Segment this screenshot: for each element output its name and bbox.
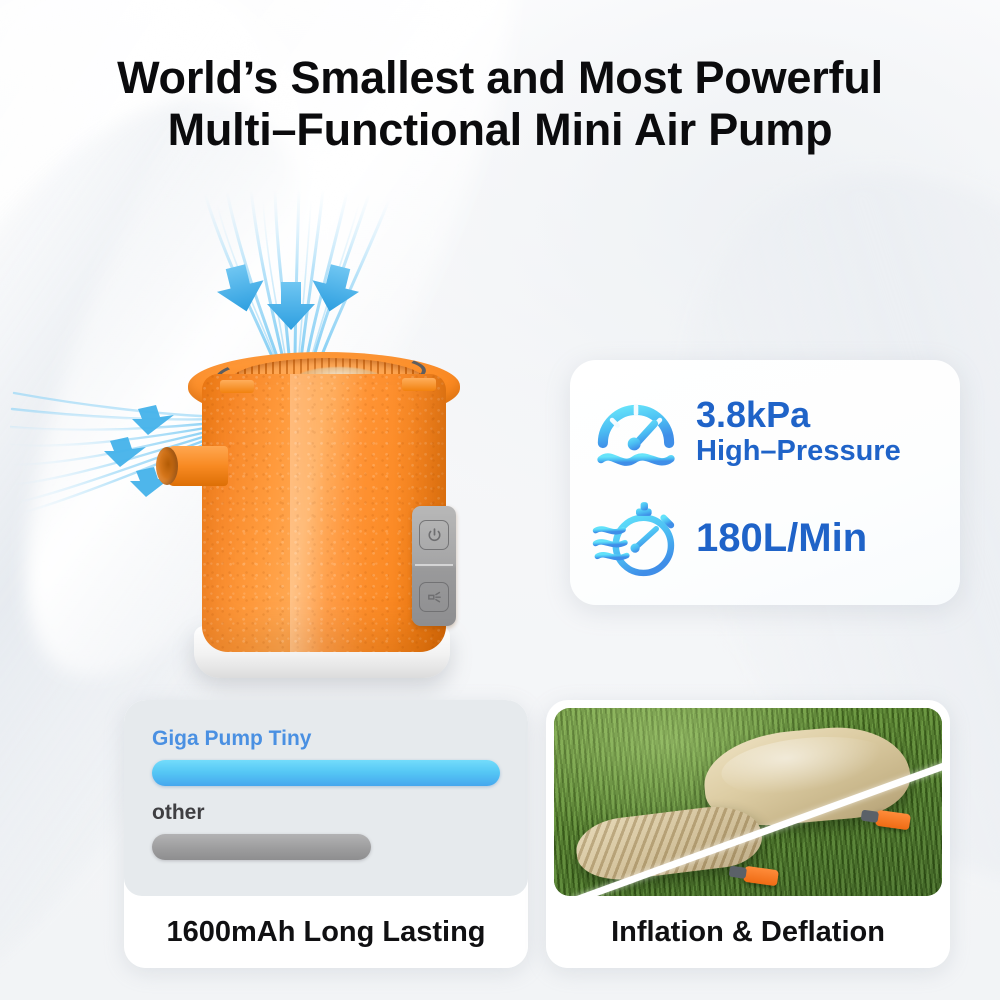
battery-card: Giga Pump Tiny other 1600mAh Long Lastin… bbox=[124, 700, 528, 968]
spec-row-pressure: 3.8kPa High–Pressure bbox=[590, 386, 901, 478]
spec-text-flow: 180L/Min bbox=[696, 516, 867, 561]
bar-label-other: other bbox=[152, 800, 500, 825]
power-button[interactable] bbox=[419, 520, 449, 550]
page-title: World’s Smallest and Most Powerful Multi… bbox=[0, 52, 1000, 156]
pump-nozzle bbox=[166, 446, 228, 486]
pump-body bbox=[202, 374, 446, 652]
photo-card-caption: Inflation & Deflation bbox=[546, 896, 950, 968]
headline-line-2: Multi–Functional Mini Air Pump bbox=[0, 104, 1000, 156]
inflation-deflation-photo bbox=[554, 708, 942, 896]
bar-fill-giga-pump-tiny bbox=[152, 760, 500, 786]
pump-button-plate bbox=[412, 506, 456, 626]
spec-label-pressure: High–Pressure bbox=[696, 435, 901, 468]
strap-tab bbox=[402, 378, 436, 391]
battery-card-caption: 1600mAh Long Lasting bbox=[124, 896, 528, 968]
light-icon bbox=[426, 589, 443, 606]
product-feature-page: World’s Smallest and Most Powerful Multi… bbox=[0, 0, 1000, 1000]
air-pump-device bbox=[180, 338, 470, 678]
pump-facet-highlight bbox=[290, 374, 365, 652]
specs-card: 3.8kPa High–Pressure bbox=[570, 360, 960, 605]
bar-fill-other bbox=[152, 834, 371, 860]
bar-label-giga-pump-tiny: Giga Pump Tiny bbox=[152, 726, 500, 751]
bar-track-other bbox=[152, 834, 500, 860]
battery-comparison-chart: Giga Pump Tiny other bbox=[124, 700, 528, 896]
spec-value-flow: 180L/Min bbox=[696, 516, 867, 561]
spec-text-pressure: 3.8kPa High–Pressure bbox=[696, 395, 901, 469]
stopwatch-airflow-icon bbox=[590, 492, 682, 584]
pressure-gauge-icon bbox=[590, 386, 682, 478]
spec-row-flow: 180L/Min bbox=[590, 492, 867, 584]
photo-card: Inflation & Deflation bbox=[546, 700, 950, 968]
strap-tab bbox=[220, 380, 254, 393]
power-icon bbox=[426, 527, 443, 544]
pump-nozzle-opening bbox=[156, 447, 178, 485]
headline-line-1: World’s Smallest and Most Powerful bbox=[0, 52, 1000, 104]
bar-track-giga-pump-tiny bbox=[152, 760, 500, 786]
spec-value-pressure: 3.8kPa bbox=[696, 395, 901, 435]
light-button[interactable] bbox=[419, 582, 449, 612]
product-illustration bbox=[30, 190, 550, 690]
